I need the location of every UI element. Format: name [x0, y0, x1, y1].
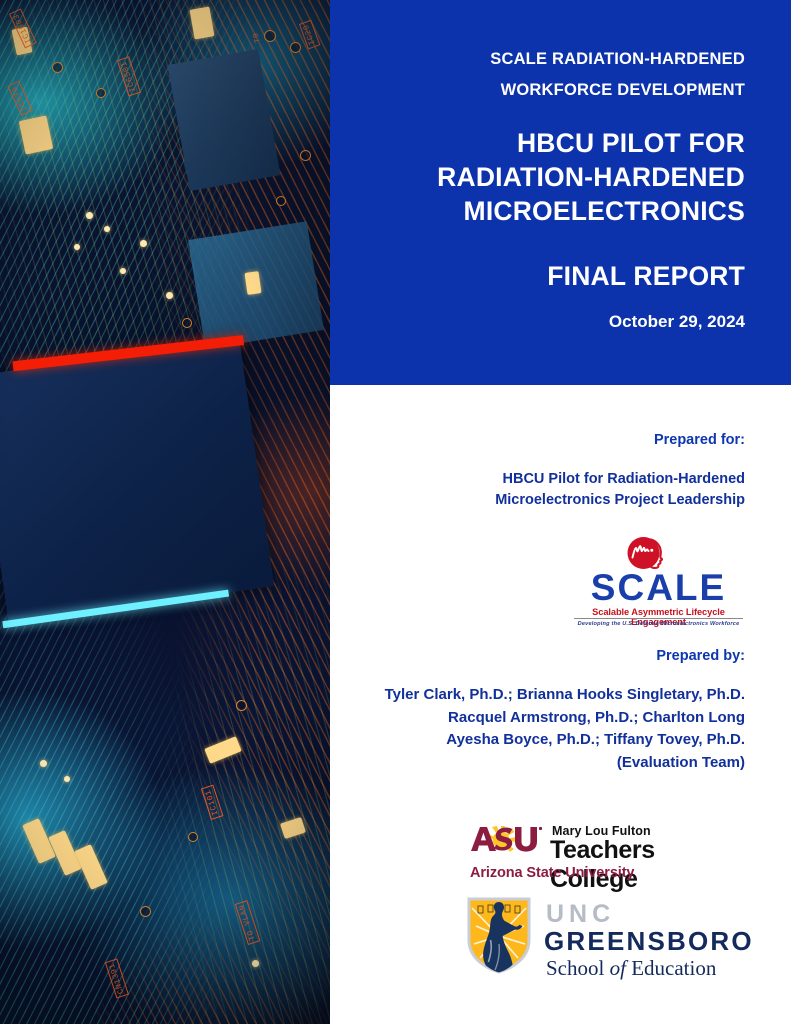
recipient-line-2: Microelectronics Project Leadership	[330, 490, 745, 511]
prepared-for-block: Prepared for: HBCU Pilot for Radiation-H…	[330, 432, 745, 511]
title-line-1: HBCU PILOT FOR	[330, 127, 745, 161]
scale-wordmark: SCALE	[566, 569, 751, 606]
pcb-via	[264, 30, 276, 42]
pcb-solder-dot	[140, 240, 147, 247]
prepared-by-block: Prepared by: Tyler Clark, Ph.D.; Brianna…	[330, 648, 745, 774]
uncg-school-word-2: of	[610, 956, 626, 980]
pcb-solder-dot	[86, 212, 93, 219]
kicker-line-1: SCALE RADIATION-HARDENED	[330, 44, 745, 75]
author-line-1: Tyler Clark, Ph.D.; Brianna Hooks Single…	[330, 684, 745, 707]
pcb-via	[140, 906, 151, 917]
report-type: FINAL REPORT	[330, 261, 745, 292]
pcb-via	[300, 150, 311, 161]
uncg-school-word-3: Education	[631, 956, 716, 980]
pcb-via	[290, 42, 301, 53]
uncg-campus-name: GREENSBORO	[544, 926, 754, 957]
title-line-3: MICROELECTRONICS	[330, 195, 745, 229]
asu-mark-icon	[470, 826, 544, 852]
pcb-via	[236, 700, 247, 711]
uncg-school-word-1: School	[546, 956, 604, 980]
cover-photo-circuit-board: IC1003 IC570 IC6501 T9 IC101 TO VLAN CN1…	[0, 0, 330, 1024]
title-line-2: RADIATION-HARDENED	[330, 161, 745, 195]
pcb-via	[188, 832, 198, 842]
scale-divider	[574, 618, 743, 619]
pcb-chip-main	[0, 339, 274, 624]
pcb-solder-dot	[252, 960, 259, 967]
pcb-via	[182, 318, 192, 328]
uncg-school-name: School of Education	[546, 956, 716, 981]
pcb-solder-dot	[74, 244, 80, 250]
title-band: SCALE RADIATION-HARDENED WORKFORCE DEVEL…	[330, 0, 791, 385]
scale-tagline: Developing the U.S. Defense Microelectro…	[566, 621, 751, 627]
program-kicker: SCALE RADIATION-HARDENED WORKFORCE DEVEL…	[330, 44, 745, 105]
pcb-solder-dot	[104, 226, 110, 232]
pcb-via	[96, 88, 106, 98]
author-line-4: (Evaluation Team)	[330, 752, 745, 775]
pcb-solder-dot	[40, 760, 47, 767]
scale-logo: SCALE Scalable Asymmetric Lifecycle Enga…	[566, 536, 751, 634]
uncg-system-name: UNC	[546, 900, 615, 929]
author-line-2: Racquel Armstrong, Ph.D.; Charlton Long	[330, 707, 745, 730]
uncg-shield-icon	[466, 896, 532, 974]
page-title: HBCU PILOT FOR RADIATION-HARDENED MICROE…	[330, 127, 745, 229]
pcb-via	[52, 62, 63, 73]
pcb-pad	[245, 271, 262, 295]
kicker-line-2: WORKFORCE DEVELOPMENT	[330, 75, 745, 106]
recipient-line-1: HBCU Pilot for Radiation-Hardened	[330, 469, 745, 490]
pcb-solder-dot	[166, 292, 173, 299]
publication-date: October 29, 2024	[330, 312, 745, 332]
asu-university-name: Arizona State University	[470, 865, 634, 881]
pcb-solder-dot	[64, 776, 70, 782]
pcb-via	[276, 196, 286, 206]
pcb-solder-dot	[120, 268, 126, 274]
title-band-content: SCALE RADIATION-HARDENED WORKFORCE DEVEL…	[330, 0, 745, 332]
prepared-for-label: Prepared for:	[330, 432, 745, 448]
prepared-by-label: Prepared by:	[330, 648, 745, 664]
author-line-3: Ayesha Boyce, Ph.D.; Tiffany Tovey, Ph.D…	[330, 729, 745, 752]
uncg-logo: UNC GREENSBORO School of Education	[466, 896, 748, 984]
asu-logo: Mary Lou Fulton Teachers College Arizona…	[470, 824, 748, 882]
